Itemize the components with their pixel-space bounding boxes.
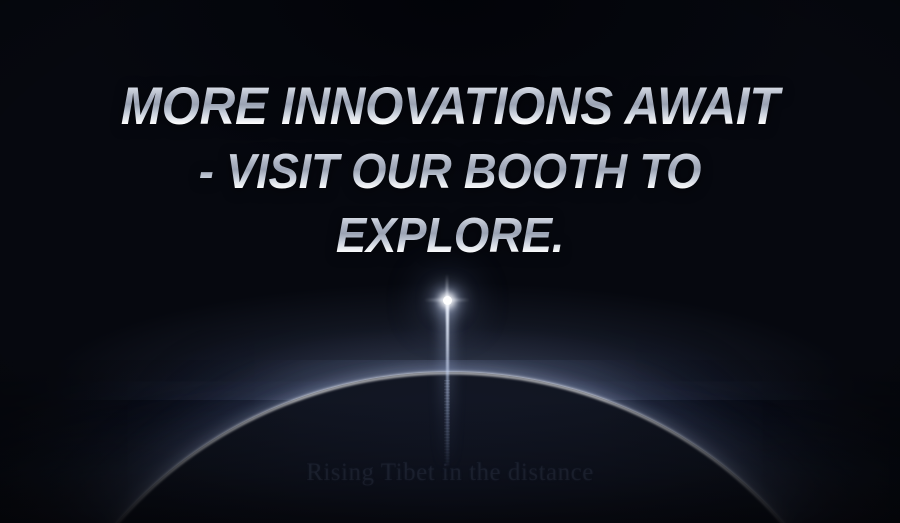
background-corner-fade — [0, 0, 900, 523]
promo-banner: Rising Tibet in the distance MORE INNOVA… — [0, 0, 900, 523]
